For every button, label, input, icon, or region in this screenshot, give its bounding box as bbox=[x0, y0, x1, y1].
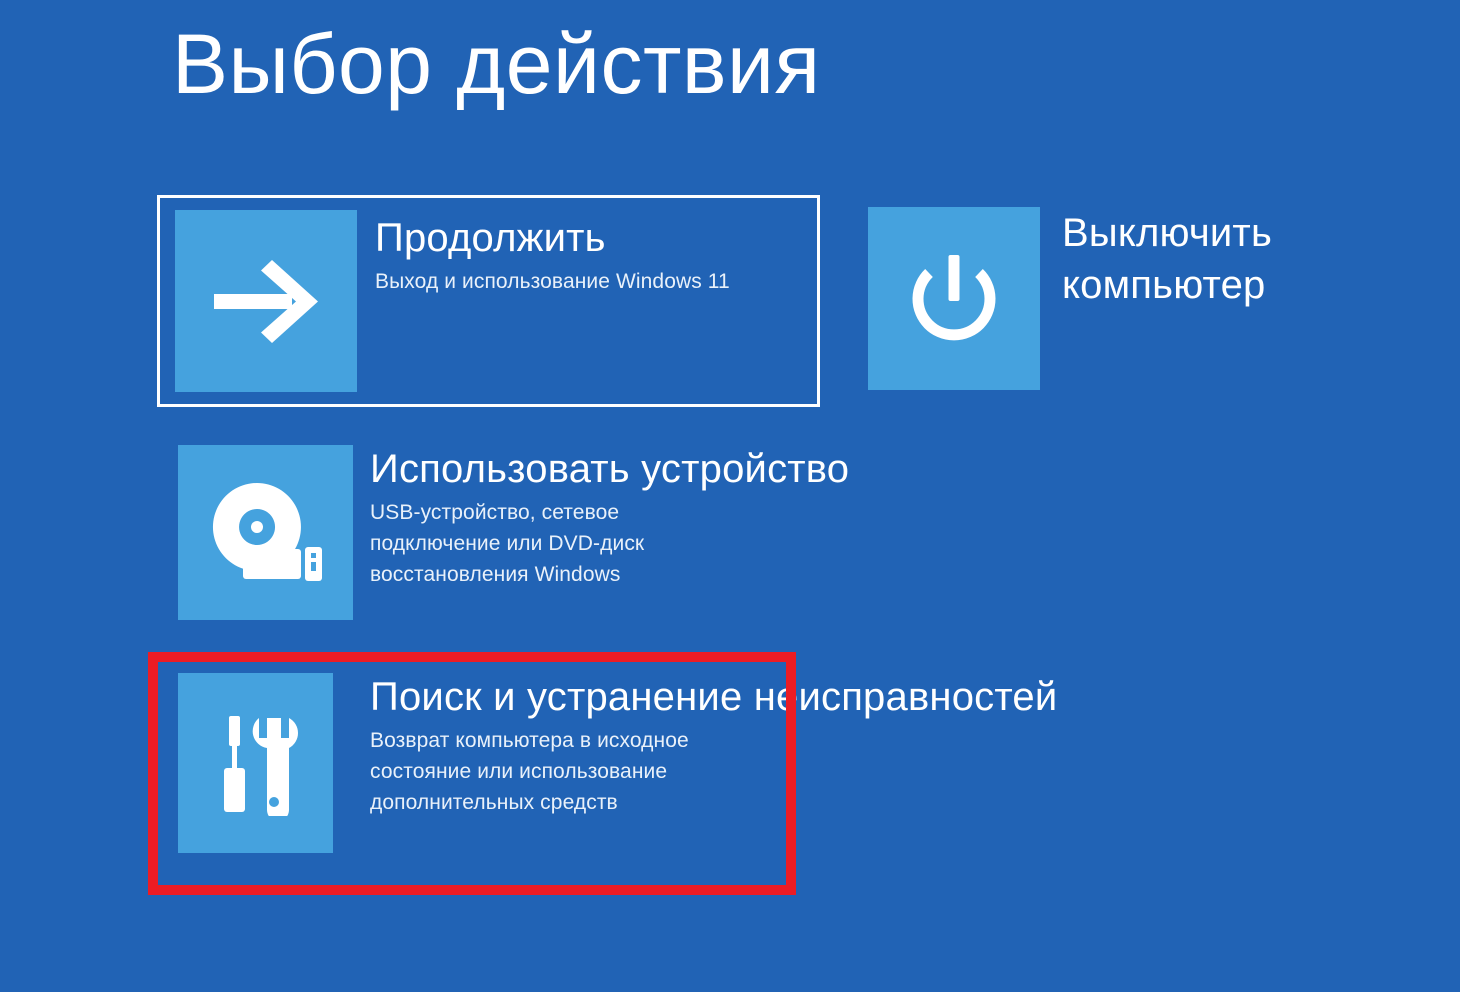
subtitle-line: Возврат компьютера в исходное bbox=[370, 725, 1057, 756]
subtitle-line: состояние или использование bbox=[370, 756, 1057, 787]
option-continue[interactable]: Продолжить Выход и использование Windows… bbox=[175, 210, 730, 392]
option-use-device-title: Использовать устройство bbox=[370, 445, 849, 493]
option-turn-off-pc-text: Выключить компьютер bbox=[1062, 207, 1272, 311]
option-use-device-tile[interactable] bbox=[178, 445, 353, 620]
option-turn-off-pc-title: Выключить компьютер bbox=[1062, 207, 1272, 311]
option-continue-subtitle: Выход и использование Windows 11 bbox=[375, 268, 730, 296]
option-troubleshoot-text: Поиск и устранение неисправностей Возвра… bbox=[370, 673, 1057, 818]
option-use-device-subtitle: USB-устройство, сетевое подключение или … bbox=[370, 497, 849, 590]
power-icon bbox=[902, 247, 1006, 351]
subtitle-line: подключение или DVD-диск bbox=[370, 528, 849, 559]
disc-usb-icon bbox=[205, 477, 327, 589]
option-use-device[interactable]: Использовать устройство USB-устройство, … bbox=[178, 445, 849, 620]
title-line: Выключить bbox=[1062, 207, 1272, 259]
title-line: компьютер bbox=[1062, 259, 1272, 311]
option-troubleshoot-title: Поиск и устранение неисправностей bbox=[370, 673, 1057, 721]
screwdriver-wrench-icon bbox=[213, 710, 299, 816]
option-troubleshoot[interactable]: Поиск и устранение неисправностей Возвра… bbox=[178, 673, 1057, 853]
option-troubleshoot-subtitle: Возврат компьютера в исходное состояние … bbox=[370, 725, 1057, 818]
option-turn-off-pc[interactable]: Выключить компьютер bbox=[868, 207, 1272, 390]
page-title: Выбор действия bbox=[172, 16, 820, 113]
option-continue-title: Продолжить bbox=[375, 214, 730, 262]
option-continue-text: Продолжить Выход и использование Windows… bbox=[375, 210, 730, 296]
arrow-right-icon bbox=[206, 246, 326, 356]
option-use-device-text: Использовать устройство USB-устройство, … bbox=[370, 445, 849, 590]
title-line: Поиск и устранение bbox=[370, 675, 742, 719]
option-troubleshoot-tile[interactable] bbox=[178, 673, 333, 853]
subtitle-line: восстановления Windows bbox=[370, 559, 849, 590]
subtitle-line: USB-устройство, сетевое bbox=[370, 497, 849, 528]
title-line: устройство bbox=[641, 447, 849, 491]
title-line: неисправностей bbox=[754, 675, 1058, 719]
recovery-screen: Выбор действия Продолжить Выход и исполь… bbox=[0, 0, 1460, 992]
option-continue-tile[interactable] bbox=[175, 210, 357, 392]
option-turn-off-pc-tile[interactable] bbox=[868, 207, 1040, 390]
title-line: Использовать bbox=[370, 447, 630, 491]
subtitle-line: дополнительных средств bbox=[370, 787, 1057, 818]
